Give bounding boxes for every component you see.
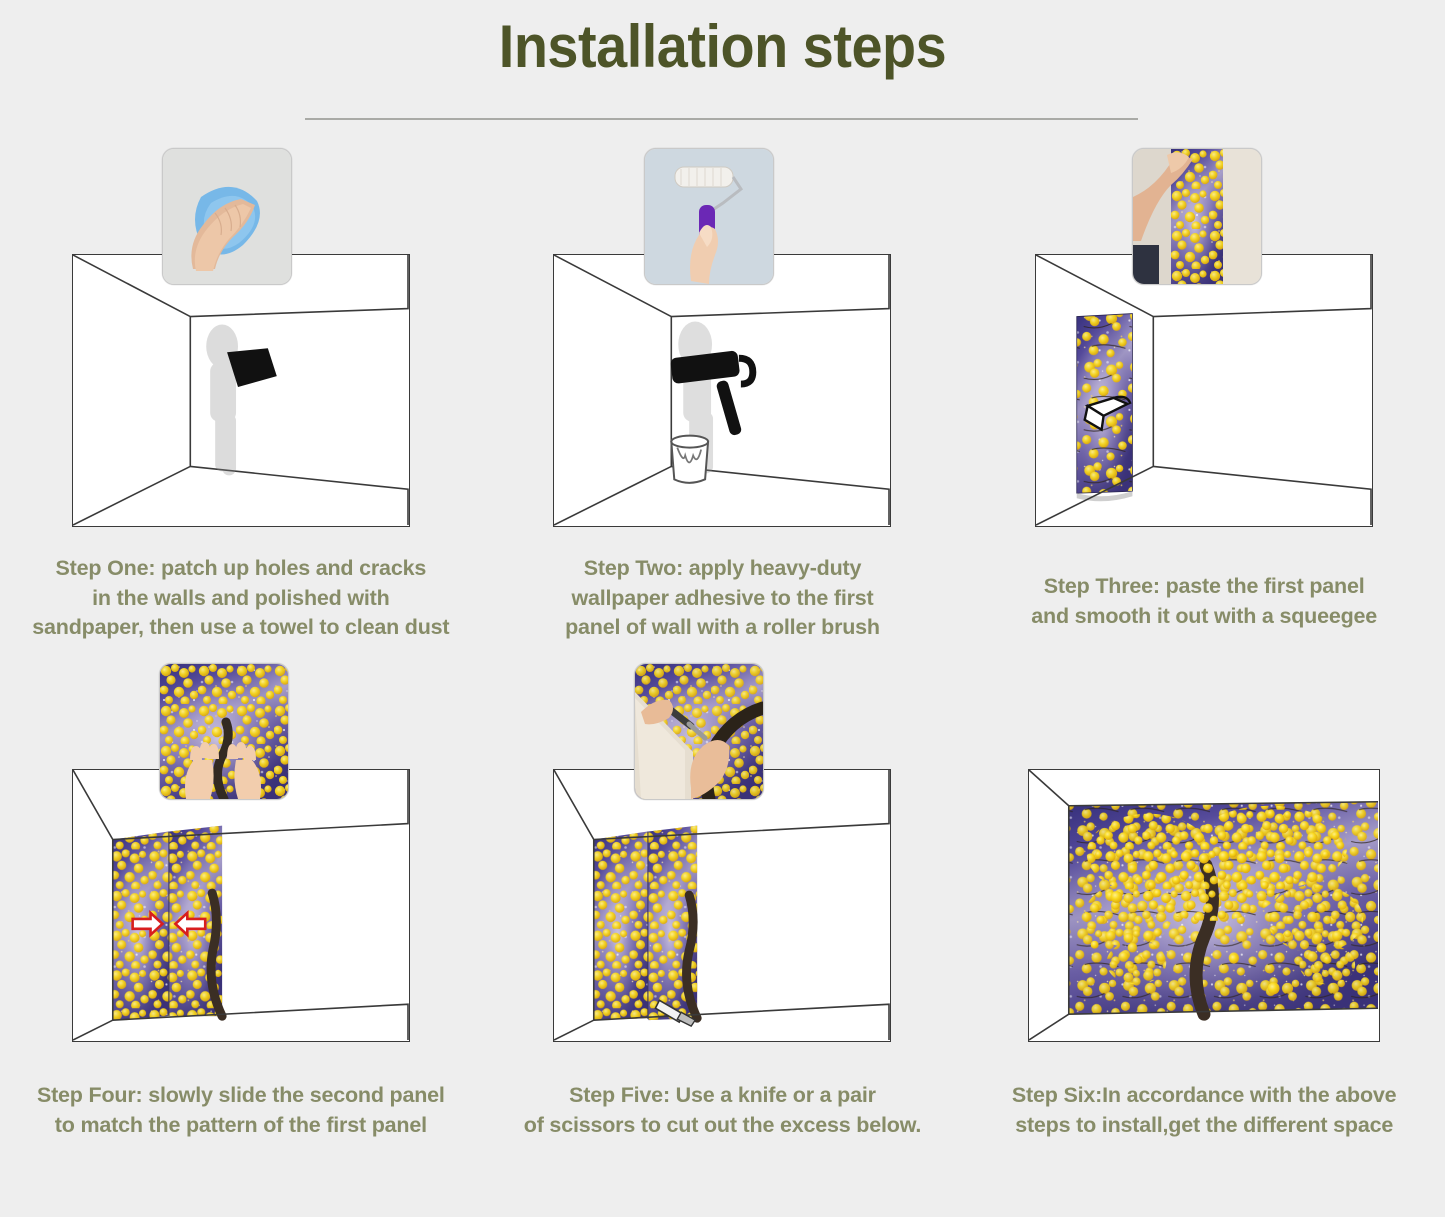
worker-shadow [206, 324, 238, 475]
wallpaper-panel-1 [594, 832, 648, 1021]
wallpaper-panel-2 [649, 826, 698, 1021]
page-title: Installation steps [51, 0, 1395, 80]
room-diagram-five [553, 769, 891, 1042]
step-three-caption: Step Three: paste the first panel and sm… [963, 572, 1445, 631]
cutting-excess-photo [635, 664, 763, 799]
room-perspective-lines [73, 255, 409, 526]
step-card-one: Step One: patch up holes and cracks in t… [0, 148, 482, 643]
wallpaper-panel-2 [169, 826, 222, 1017]
wallpaper-full-wall [1069, 802, 1378, 1014]
squeegee-icon [1085, 397, 1131, 430]
step-five-caption: Step Five: Use a knife or a pair of scis… [482, 1081, 964, 1140]
step-two-caption: Step Two: apply heavy-duty wallpaper adh… [482, 554, 964, 643]
room-diagram-six [1028, 769, 1380, 1042]
room-perspective-lines [73, 770, 409, 1041]
step-card-five: Step Five: Use a knife or a pair of scis… [482, 663, 964, 1140]
paint-roller-icon [670, 350, 753, 436]
step-one-caption: Step One: patch up holes and cracks in t… [0, 554, 482, 643]
step-card-six: Step Six:In accordance with the above st… [963, 663, 1445, 1140]
pasting-first-panel-photo [1133, 149, 1261, 284]
wallpaper-panel-1 [1077, 314, 1133, 502]
room-diagram-four [72, 769, 410, 1042]
matching-pattern-photo [160, 664, 288, 799]
tree-canopy [1085, 806, 1363, 985]
room-perspective-lines [1036, 255, 1372, 526]
step-three-figure [963, 148, 1445, 556]
steps-grid: Step One: patch up holes and cracks in t… [0, 148, 1445, 1140]
utility-knife-icon [656, 1000, 696, 1026]
paint-bucket-icon [672, 436, 709, 483]
title-divider [305, 118, 1138, 120]
matching-arrows-icon [132, 913, 205, 935]
room-perspective-lines [1029, 770, 1379, 1041]
sponge-icon [227, 348, 277, 387]
worker-shadow [679, 322, 714, 474]
step-three-thumbnail [1132, 148, 1262, 285]
room-perspective-lines [554, 770, 890, 1041]
step-five-thumbnail [634, 663, 764, 800]
step-six-figure [963, 663, 1445, 1071]
step-one-thumbnail [162, 148, 292, 285]
paint-roller-photo [645, 149, 773, 284]
falling-petals [1091, 891, 1280, 994]
room-perspective-lines [554, 255, 890, 526]
step-two-figure [482, 148, 964, 556]
step-four-thumbnail [159, 663, 289, 800]
step-one-figure [0, 148, 482, 556]
room-diagram-one [72, 254, 410, 527]
step-four-caption: Step Four: slowly slide the second panel… [0, 1081, 482, 1140]
step-card-four: Step Four: slowly slide the second panel… [0, 663, 482, 1140]
step-card-three: Step Three: paste the first panel and sm… [963, 148, 1445, 643]
hand-wiping-wall-photo [163, 149, 291, 284]
wallpaper-panel-1 [113, 832, 169, 1021]
room-diagram-three [1035, 254, 1373, 527]
step-five-figure [482, 663, 964, 1071]
step-card-two: Step Two: apply heavy-duty wallpaper adh… [482, 148, 964, 643]
tree-trunk [1196, 865, 1212, 1014]
room-diagram-two [553, 254, 891, 527]
step-two-thumbnail [644, 148, 774, 285]
step-six-caption: Step Six:In accordance with the above st… [963, 1081, 1445, 1140]
step-four-figure [0, 663, 482, 1071]
